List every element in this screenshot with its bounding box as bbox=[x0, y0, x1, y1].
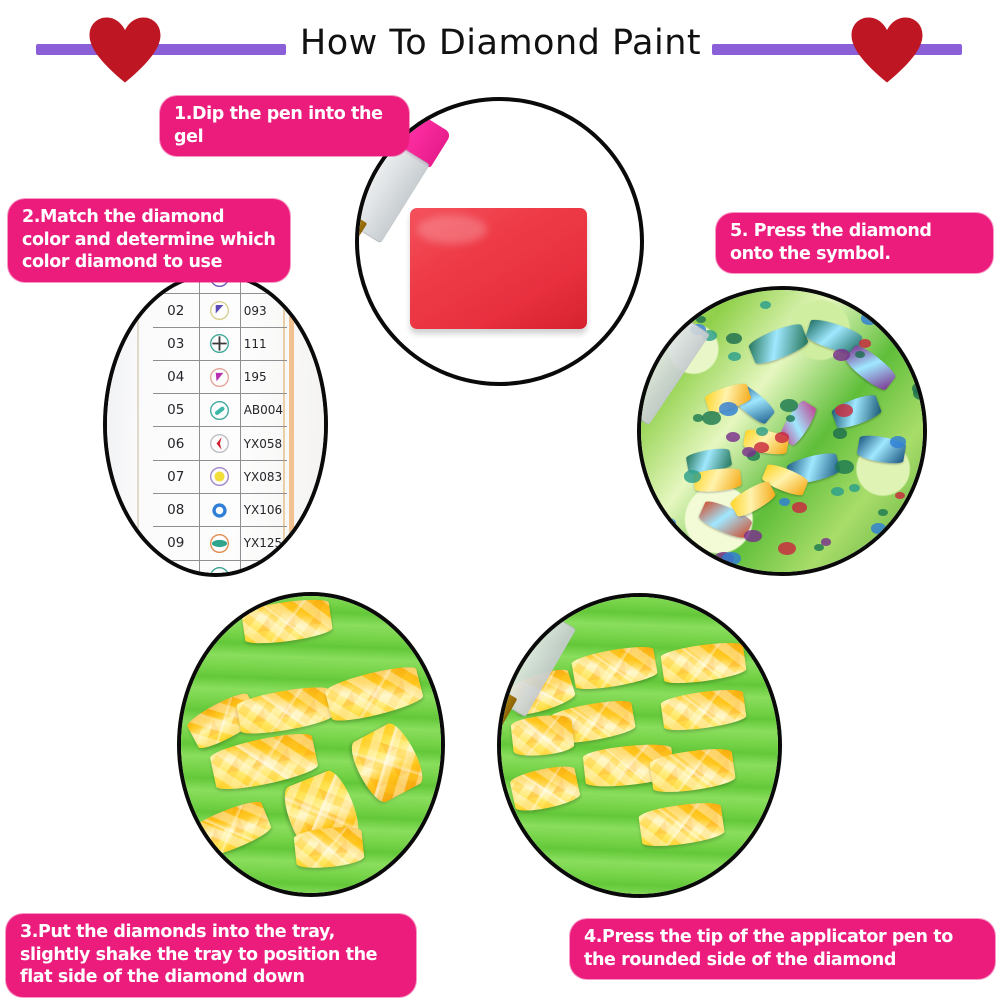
chart-code-cell: 03 bbox=[153, 328, 200, 360]
filled-triangle-circle-symbol bbox=[200, 294, 241, 326]
color-chart-row: 08YX106 bbox=[153, 494, 288, 527]
placed-diamond bbox=[747, 320, 810, 368]
printed-symbol-dot bbox=[831, 487, 844, 496]
printed-symbol-dot bbox=[849, 484, 860, 492]
printed-symbol-dot bbox=[878, 509, 888, 516]
step-4-photo bbox=[497, 593, 782, 898]
chart-margin-line bbox=[137, 276, 139, 573]
chart-code-cell: 09 bbox=[153, 527, 200, 559]
printed-symbol-dot bbox=[835, 404, 853, 417]
printed-symbol-dot bbox=[728, 352, 741, 361]
color-chart-row: 03111 bbox=[153, 328, 288, 361]
printed-symbol-dot bbox=[662, 518, 676, 528]
red-gel-pad bbox=[410, 208, 587, 329]
chart-code-cell: 05 bbox=[153, 394, 200, 426]
chart-code-cell: 04 bbox=[153, 361, 200, 393]
printed-symbol-dot bbox=[895, 492, 905, 499]
color-chart-table: 0102002093031110419505AB00406YX05807YX08… bbox=[153, 272, 288, 577]
plus-cross-circle-symbol bbox=[200, 328, 241, 360]
diagonal-capsule-circle-symbol bbox=[200, 394, 241, 426]
color-chart-row: 02093 bbox=[153, 294, 288, 327]
printed-symbol-dot bbox=[684, 470, 701, 482]
printed-symbol-dot bbox=[719, 402, 738, 416]
color-chart-row: 09YX125 bbox=[153, 527, 288, 560]
chart-code-cell: 10 bbox=[153, 561, 200, 577]
color-chart-row: 06YX058 bbox=[153, 427, 288, 460]
step-2-photo: 0102002093031110419505AB00406YX05807YX08… bbox=[103, 272, 328, 577]
printed-symbol-dot bbox=[835, 460, 854, 474]
yellow-disc-circle-symbol bbox=[200, 461, 241, 493]
printed-symbol-dot bbox=[833, 349, 849, 361]
color-chart-row: 10 bbox=[153, 561, 288, 577]
printed-symbol-dot bbox=[760, 301, 772, 310]
printed-symbol-dot bbox=[905, 504, 918, 513]
left-chevron-circle-symbol bbox=[200, 427, 241, 459]
page-header: How To Diamond Paint bbox=[0, 0, 1001, 92]
printed-symbol-dot bbox=[756, 427, 768, 436]
step-3-label: 3.Put the diamonds into the tray, slight… bbox=[6, 914, 416, 997]
printed-symbol-dot bbox=[726, 333, 742, 345]
step-5-photo bbox=[637, 286, 927, 576]
step-4-label: 4.Press the tip of the applicator pen to… bbox=[570, 919, 995, 979]
color-symbol-chart-photo: 0102002093031110419505AB00406YX05807YX08… bbox=[107, 276, 324, 573]
chart-color-number-cell: 111 bbox=[241, 328, 287, 360]
chart-code-cell: 08 bbox=[153, 494, 200, 526]
page-title: How To Diamond Paint bbox=[0, 20, 1001, 66]
yellow-diamond bbox=[294, 824, 365, 869]
chart-color-number-cell: YX106 bbox=[241, 494, 287, 526]
step-3-photo bbox=[177, 592, 445, 897]
chart-color-number-cell: YX083 bbox=[241, 461, 287, 493]
printed-symbol-dot bbox=[775, 432, 789, 442]
color-chart-row: 05AB004 bbox=[153, 394, 288, 427]
chart-code-cell: 06 bbox=[153, 427, 200, 459]
printed-symbol-dot bbox=[894, 517, 909, 527]
printed-symbol-dot bbox=[861, 312, 878, 324]
chart-code-cell: 02 bbox=[153, 294, 200, 326]
color-chart-row: 07YX083 bbox=[153, 461, 288, 494]
printed-symbol-dot bbox=[778, 542, 796, 555]
chart-orange-strip bbox=[289, 276, 294, 573]
chart-color-number-cell: 195 bbox=[241, 361, 287, 393]
printed-symbol-dot bbox=[871, 523, 886, 533]
printed-symbol-dot bbox=[779, 498, 790, 506]
printed-symbol-dot bbox=[693, 414, 703, 421]
chart-color-number-cell: YX125 bbox=[241, 527, 287, 559]
chart-color-number-cell: AB004 bbox=[241, 394, 287, 426]
printed-symbol-dot bbox=[726, 432, 740, 442]
step-5-label: 5. Press the diamond onto the symbol. bbox=[716, 213, 993, 273]
diamond-facets bbox=[294, 824, 365, 869]
pen-tip bbox=[637, 392, 640, 452]
chart-color-number-cell: 093 bbox=[241, 294, 287, 326]
magenta-triangle-circle-symbol bbox=[200, 361, 241, 393]
printed-symbol-dot bbox=[905, 325, 919, 335]
chart-code-cell: 07 bbox=[153, 461, 200, 493]
blue-ring-symbol bbox=[200, 494, 241, 526]
printed-symbol-dot bbox=[722, 552, 741, 566]
teal-leaf-symbol bbox=[200, 527, 241, 559]
chart-color-number-cell bbox=[241, 561, 287, 577]
step-2-label: 2.Match the diamond color and determine … bbox=[8, 199, 290, 282]
pen-picking-up-diamond-photo bbox=[501, 597, 778, 894]
printed-symbol-dot bbox=[912, 382, 927, 395]
teal-leaf-symbol bbox=[200, 561, 241, 577]
printed-symbol-dot bbox=[792, 502, 806, 512]
printed-symbol-dot bbox=[814, 544, 825, 552]
placing-diamond-on-canvas-photo bbox=[641, 290, 923, 572]
placed-diamond bbox=[843, 342, 898, 393]
printed-symbol-dot bbox=[744, 530, 762, 543]
step-1-label: 1.Dip the pen into the gel bbox=[160, 96, 409, 156]
diamonds-in-green-tray-photo bbox=[181, 596, 441, 893]
printed-symbol-dot bbox=[696, 316, 706, 323]
printed-symbol-dot bbox=[833, 428, 848, 439]
chart-color-number-cell: YX058 bbox=[241, 427, 287, 459]
printed-symbol-dot bbox=[859, 339, 871, 348]
printed-symbol-dot bbox=[780, 399, 797, 412]
printed-symbol-dot bbox=[702, 411, 721, 425]
printed-symbol-dot bbox=[906, 342, 921, 353]
color-chart-row: 04195 bbox=[153, 361, 288, 394]
